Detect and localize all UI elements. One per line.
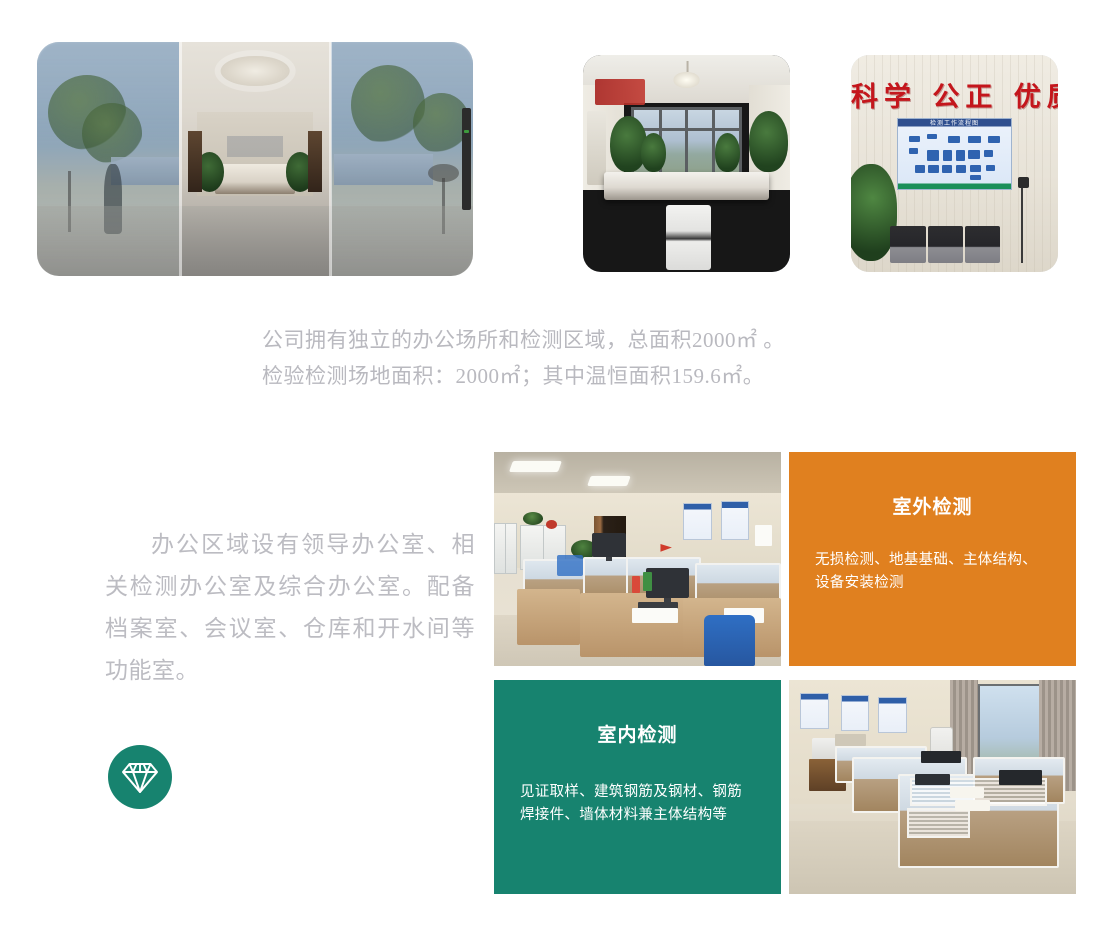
- card-outdoor-testing: 室外检测 无损检测、地基基础、主体结构、设备安装检测: [789, 452, 1076, 666]
- office-description-text: 办公区域设有领导办公室、相关检测办公室及综合办公室。配备档案室、会议室、仓库和开…: [105, 524, 475, 692]
- wall-slogan-text: 科学 公正 优质 高效: [851, 75, 1058, 114]
- card-indoor-desc: 见证取样、建筑钢筋及钢材、钢筋焊接件、墙体材料兼主体结构等: [520, 781, 755, 827]
- photo-lobby: [37, 42, 473, 276]
- diamond-badge: [108, 745, 172, 809]
- card-indoor-title: 室内检测: [520, 720, 755, 747]
- card-indoor-testing: 室内检测 见证取样、建筑钢筋及钢材、钢筋焊接件、墙体材料兼主体结构等: [494, 680, 781, 894]
- photo-meeting-room: [583, 55, 790, 272]
- photo-open-office: [494, 452, 781, 666]
- photo-slogan-wall: 科学 公正 优质 高效 检测工作流程图: [851, 55, 1058, 272]
- diamond-icon: [121, 761, 159, 794]
- intro-caption: 公司拥有独立的办公场所和检测区域，总面积2000㎡ 。 检验检测场地面积：200…: [262, 322, 882, 394]
- card-outdoor-desc: 无损检测、地基基础、主体结构、设备安装检测: [815, 549, 1050, 595]
- page-root: 科学 公正 优质 高效 检测工作流程图: [0, 0, 1100, 927]
- card-outdoor-title: 室外检测: [815, 492, 1050, 519]
- wall-board-title: 检测工作流程图: [898, 119, 1012, 127]
- photo-testing-office: [789, 680, 1076, 894]
